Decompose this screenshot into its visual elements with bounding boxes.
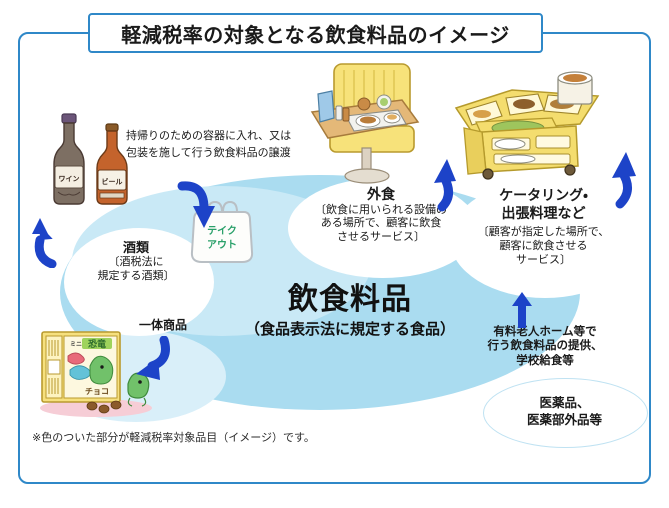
wine-bottle-graphic: ワイン (54, 114, 84, 204)
choco-box-graphic: ミニ 恐竜 チョコ (42, 332, 120, 402)
takeout-description-line2: 包装を施して行う飲食料品の譲渡 (126, 145, 326, 162)
footnote: ※色のついた部分が軽減税率対象品目（イメージ）です。 (32, 432, 362, 446)
takeout-description: 持帰りのための容器に入れ、又は 包装を施して行う飲食料品の譲渡 (126, 128, 326, 162)
infographic-page: 軽減税率の対象となる飲食料品のイメージ ワイン ビール (0, 0, 669, 508)
takeout-description-line1: 持帰りのための容器に入れ、又は (126, 128, 326, 145)
page-title-box: 軽減税率の対象となる飲食料品のイメージ (88, 13, 543, 53)
liquor-label: 酒類 〔酒税法に 規定する酒類〕 (76, 240, 196, 284)
center-main-label: 飲食料品 （食品表示法に規定する食品） (215, 283, 485, 339)
catering-sub-line3: サービス〕 (456, 254, 631, 268)
choco-box-brand: ミニ (70, 341, 82, 348)
gaishoku-sub-line2: ある場所で、顧客に飲食 (296, 217, 466, 231)
wine-bottle-label: ワイン (59, 175, 80, 183)
center-heading: 飲食料品 (215, 283, 485, 318)
liquor-sub-line1: 〔酒税法に (76, 256, 196, 270)
choco-box-type: チョコ (85, 387, 109, 396)
medicine-label: 医薬品、 医薬部外品等 (487, 382, 642, 442)
nursing-line3: 学校給食等 (460, 354, 630, 368)
arrow-to-ittai-shouhin (128, 336, 174, 390)
buffet-cart-graphic (456, 72, 598, 179)
catering-sub-line1: 〔顧客が指定した場所で、 (456, 226, 631, 240)
ittai-shouhin-label: 一体商品 (118, 318, 208, 333)
page-title: 軽減税率の対象となる飲食料品のイメージ (121, 19, 510, 48)
liquor-sub-line2: 規定する酒類〕 (76, 270, 196, 284)
center-subheading: （食品表示法に規定する食品） (215, 321, 485, 340)
liquor-heading: 酒類 (76, 240, 196, 256)
arrow-to-liquor (28, 212, 72, 268)
nursing-line2: 行う飲食料品の提供、 (460, 339, 630, 353)
beer-bottle-graphic: ビール (97, 124, 127, 204)
catering-sub-line2: 顧客に飲食させる (456, 240, 631, 254)
gaishoku-sub-line3: させるサービス〕 (296, 231, 466, 245)
beer-bottle-label: ビール (102, 177, 123, 186)
arrow-to-takeout (176, 178, 230, 234)
catering-cart-illustration (452, 62, 602, 186)
medicine-line2: 医薬部外品等 (527, 412, 602, 430)
arrow-to-catering (590, 150, 644, 210)
choco-box-name: 恐竜 (88, 338, 106, 349)
arrow-to-gaishoku (408, 155, 460, 213)
arrow-to-nursing-home (512, 292, 532, 328)
nursing-line1: 有料老人ホーム等で (460, 325, 630, 339)
nursing-home-label: 有料老人ホーム等で 行う飲食料品の提供、 学校給食等 (460, 325, 630, 368)
medicine-line1: 医薬品、 (539, 395, 589, 413)
soup-pot-graphic (558, 72, 592, 104)
takeout-bag-line2: アウト (207, 239, 237, 251)
